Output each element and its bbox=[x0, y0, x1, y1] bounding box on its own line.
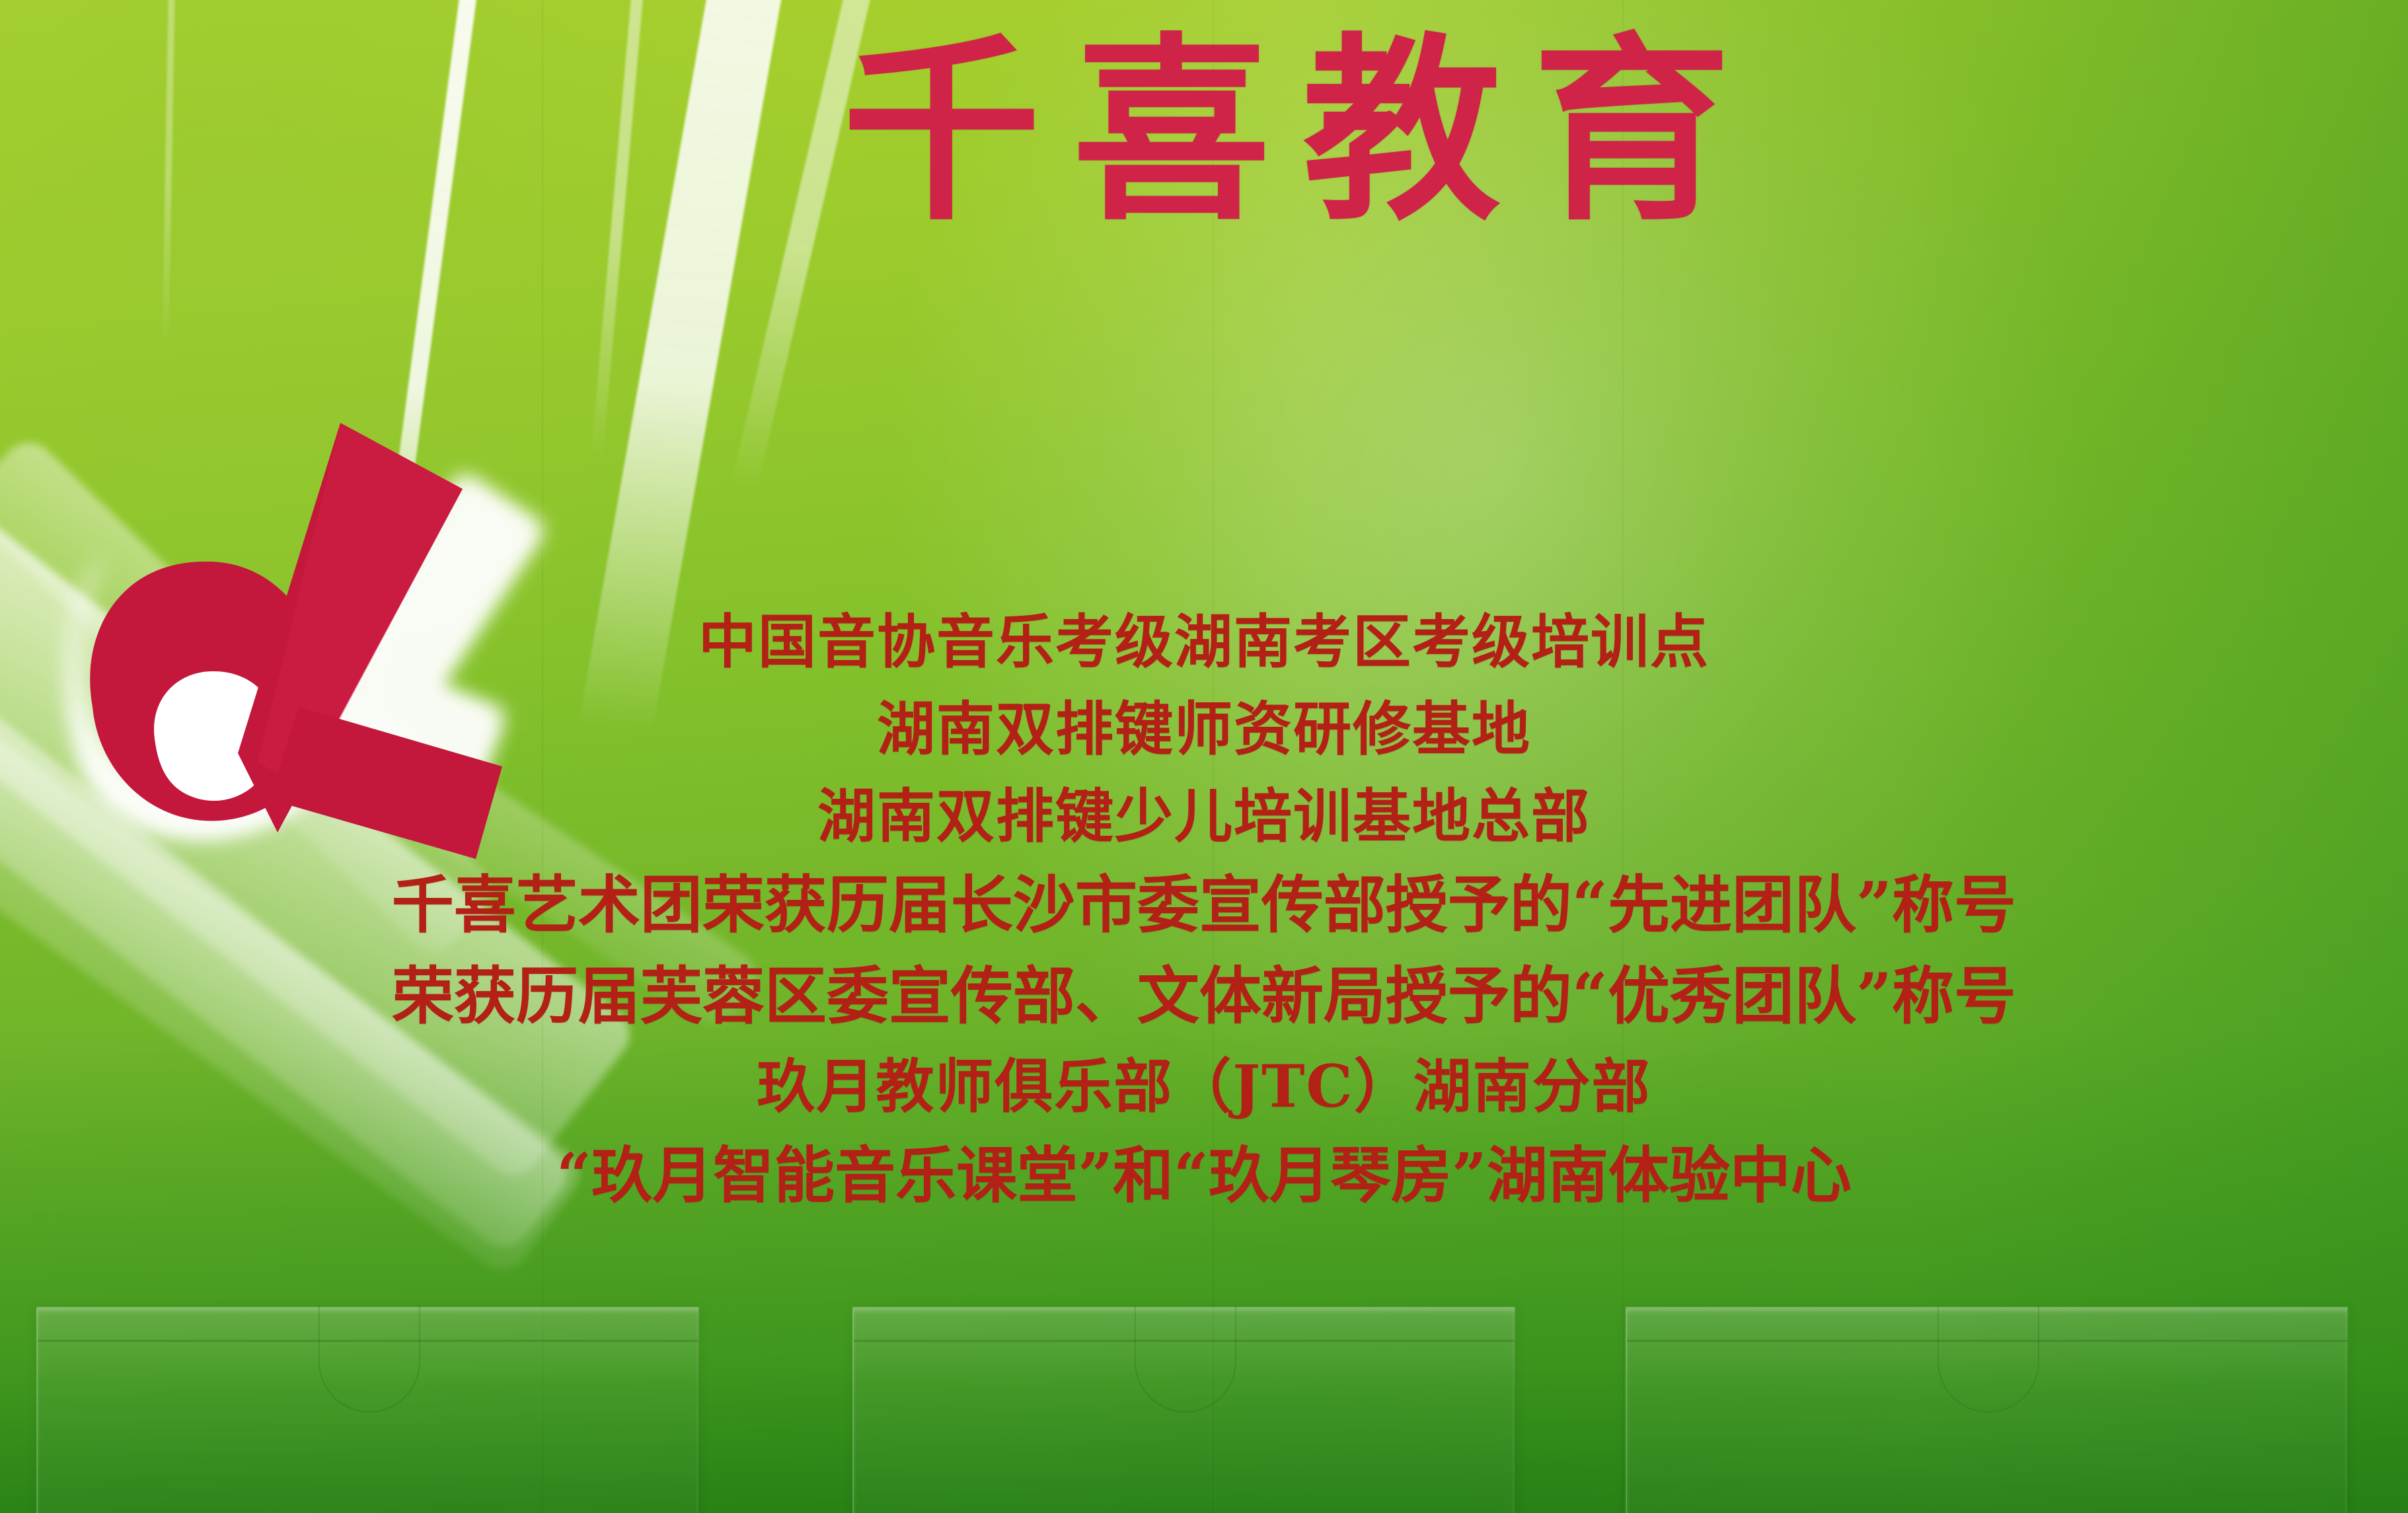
credential-line: 湖南双排键少儿培训基地总部 bbox=[0, 772, 2408, 860]
holder-notch bbox=[319, 1306, 420, 1413]
brochure-holder[interactable] bbox=[1626, 1307, 2349, 1513]
credential-line: 湖南双排键师资研修基地 bbox=[0, 685, 2408, 772]
credential-list: 中国音协音乐考级湖南考区考级培训点 湖南双排键师资研修基地 湖南双排键少儿培训基… bbox=[0, 598, 2408, 1220]
brochure-holder-row bbox=[0, 1295, 2408, 1513]
brochure-holder[interactable] bbox=[852, 1307, 1516, 1513]
credential-line: 千喜艺术团荣获历届长沙市委宣传部授予的“先进团队”称号 bbox=[0, 860, 2408, 951]
signboard-photo: 千喜教育 中国音 bbox=[0, 0, 2408, 1513]
credential-line: “玖月智能音乐课堂”和“玖月琴房”湖南体验中心 bbox=[0, 1130, 2408, 1220]
credential-line: 玖月教师俱乐部（JTC）湖南分部 bbox=[0, 1042, 2408, 1130]
credential-line: 中国音协音乐考级湖南考区考级培训点 bbox=[0, 598, 2408, 685]
holder-notch bbox=[1938, 1306, 2039, 1413]
holder-notch bbox=[1135, 1306, 1236, 1413]
brochure-holder[interactable] bbox=[36, 1307, 700, 1513]
page-title: 千喜教育 bbox=[0, 32, 2408, 230]
credential-line: 荣获历届芙蓉区委宣传部、文体新局授予的“优秀团队”称号 bbox=[0, 951, 2408, 1042]
